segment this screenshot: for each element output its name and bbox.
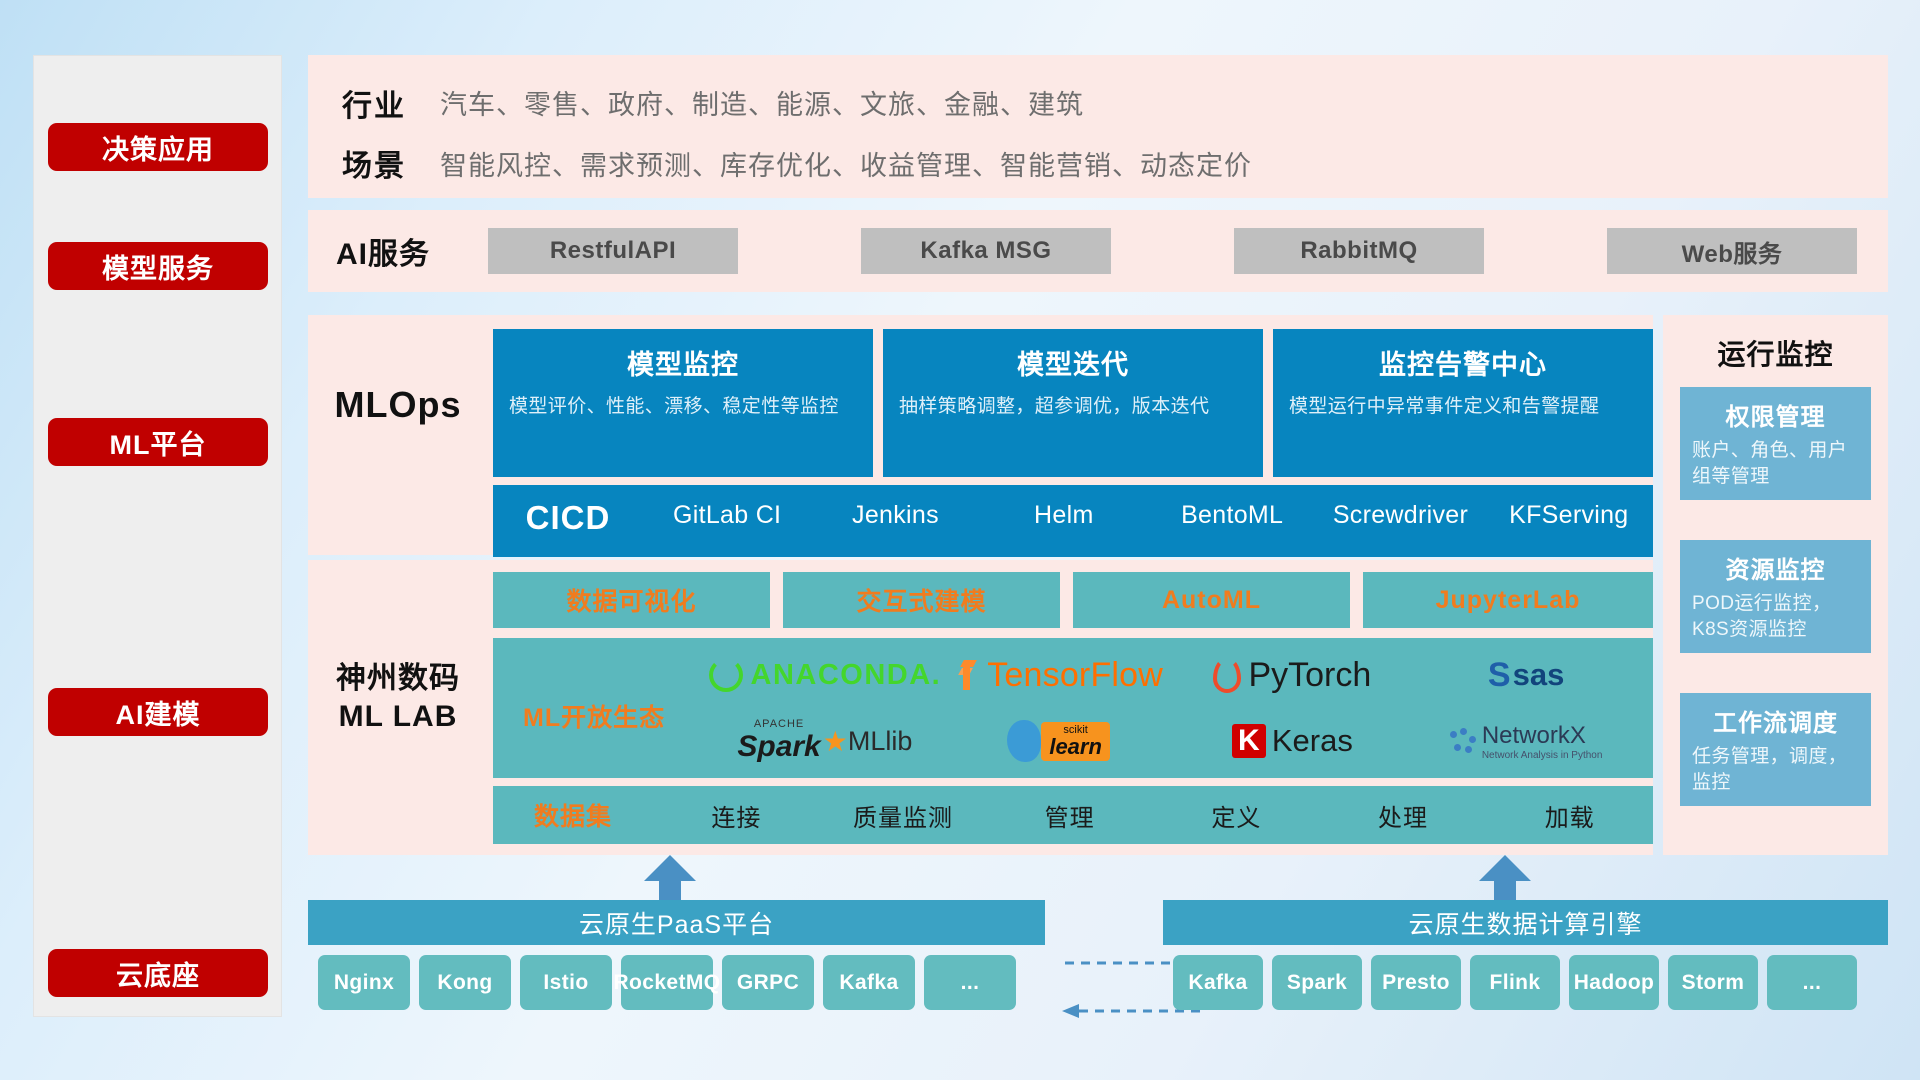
dataset-bar: 数据集 连接 质量监测 管理 定义 处理 加载 <box>493 786 1653 844</box>
engine-chip-more[interactable]: ... <box>1767 955 1857 1010</box>
ml-lab-label: 神州数码 ML LAB <box>308 660 488 735</box>
card-desc: 抽样策略调整，超参调优，版本迭代 <box>899 394 1247 420</box>
logo-spark-mllib: APACHE Spark ★ MLlib <box>708 708 942 774</box>
paas-chip-kafka[interactable]: Kafka <box>823 955 915 1010</box>
card-title: 工作流调度 <box>1692 703 1859 738</box>
rail-item-decision-app[interactable]: 决策应用 <box>48 123 268 171</box>
industry-values: 汽车、零售、政府、制造、能源、文旅、金融、建筑 <box>440 83 1084 122</box>
logo-sas-text: sas <box>1513 657 1565 693</box>
cicd-item-bentoml[interactable]: BentoML <box>1148 485 1316 530</box>
paas-chip-rocketmq[interactable]: RocketMQ <box>621 955 713 1010</box>
spark-apache-label: APACHE <box>754 718 804 730</box>
spark-star-icon: ★ <box>823 725 848 758</box>
card-title: 模型监控 <box>509 343 857 382</box>
card-desc: 账户、角色、用户组等管理 <box>1692 438 1859 489</box>
arrow-up-left-icon <box>640 855 700 900</box>
logo-keras-text: Keras <box>1272 723 1353 759</box>
sas-icon: S <box>1488 656 1511 695</box>
ml-ecosystem-label: ML开放生态 <box>523 698 665 734</box>
architecture-diagram: 决策应用 模型服务 ML平台 AI建模 云底座 行业 汽车、零售、政府、制造、能… <box>0 0 1920 1080</box>
pytorch-icon <box>1213 657 1241 693</box>
cicd-item-jenkins[interactable]: Jenkins <box>811 485 979 530</box>
networkx-subtitle: Network Analysis in Python <box>1482 750 1603 761</box>
mlops-panel: MLOps 模型监控 模型评价、性能、漂移、稳定性等监控 模型迭代 抽样策略调整… <box>308 315 1653 555</box>
logo-tensorflow: TensorFlow <box>942 642 1176 708</box>
engine-chip-spark[interactable]: Spark <box>1272 955 1362 1010</box>
engine-chip-presto[interactable]: Presto <box>1371 955 1461 1010</box>
ml-ecosystem-logos: ANACONDA. TensorFlow PyTorch S sas <box>708 642 1643 774</box>
logo-tensorflow-text: TensorFlow <box>987 656 1163 695</box>
monitor-card-resource[interactable]: 资源监控 POD运行监控，K8S资源监控 <box>1680 540 1871 653</box>
networkx-icon <box>1450 728 1476 754</box>
rail-item-model-service[interactable]: 模型服务 <box>48 242 268 290</box>
industry-label: 行业 <box>308 81 440 125</box>
anaconda-icon <box>709 658 743 692</box>
dataset-item-process[interactable]: 处理 <box>1320 798 1487 833</box>
industry-scenario-panel: 行业 汽车、零售、政府、制造、能源、文旅、金融、建筑 场景 智能风控、需求预测、… <box>308 55 1888 198</box>
dataset-label: 数据集 <box>493 797 653 833</box>
scikit-learn-badge: scikit learn <box>1041 722 1110 761</box>
mllab-tab-interactive-modeling[interactable]: 交互式建模 <box>783 572 1060 628</box>
logo-scikit-learn: scikit learn <box>942 708 1176 774</box>
engine-chip-kafka[interactable]: Kafka <box>1173 955 1263 1010</box>
ml-lab-label-line2: ML LAB <box>308 698 488 736</box>
monitor-card-permission[interactable]: 权限管理 账户、角色、用户组等管理 <box>1680 387 1871 500</box>
logo-networkx: NetworkX Network Analysis in Python <box>1409 708 1643 774</box>
ml-lab-panel: 神州数码 ML LAB 数据可视化 交互式建模 AutoML JupyterLa… <box>308 560 1653 855</box>
cicd-item-gitlab-ci[interactable]: GitLab CI <box>643 485 811 530</box>
card-desc: 模型运行中异常事件定义和告警提醒 <box>1289 394 1637 420</box>
engine-chip-hadoop[interactable]: Hadoop <box>1569 955 1659 1010</box>
dataset-item-quality[interactable]: 质量监测 <box>820 798 987 833</box>
ai-service-restfulapi[interactable]: RestfulAPI <box>488 228 738 274</box>
scenario-label: 场景 <box>308 141 440 185</box>
ai-service-label: AI服务 <box>308 210 458 292</box>
rail-item-cloud-base[interactable]: 云底座 <box>48 949 268 997</box>
ai-service-kafka-msg[interactable]: Kafka MSG <box>861 228 1111 274</box>
cicd-item-helm[interactable]: Helm <box>980 485 1148 530</box>
dataset-item-connect[interactable]: 连接 <box>653 798 820 833</box>
monitor-card-workflow[interactable]: 工作流调度 任务管理，调度，监控 <box>1680 693 1871 806</box>
dataset-item-load[interactable]: 加载 <box>1486 798 1653 833</box>
tensorflow-icon <box>954 660 980 690</box>
cicd-item-screwdriver[interactable]: Screwdriver <box>1316 485 1484 530</box>
run-monitoring-title: 运行监控 <box>1663 333 1888 373</box>
paas-chip-grpc[interactable]: GRPC <box>722 955 814 1010</box>
dataset-item-manage[interactable]: 管理 <box>986 798 1153 833</box>
logo-networkx-text: NetworkX <box>1482 722 1586 749</box>
data-engine-header: 云原生数据计算引擎 <box>1163 900 1888 945</box>
logo-spark-text: Spark <box>737 730 820 764</box>
engine-chip-storm[interactable]: Storm <box>1668 955 1758 1010</box>
cicd-label: CICD <box>493 485 643 537</box>
logo-pytorch-text: PyTorch <box>1248 656 1371 695</box>
logo-keras: K Keras <box>1176 708 1410 774</box>
rail-item-ml-platform[interactable]: ML平台 <box>48 418 268 466</box>
cicd-bar: CICD GitLab CI Jenkins Helm BentoML Scre… <box>493 485 1653 557</box>
arrow-up-right-icon <box>1475 855 1535 900</box>
mlops-label: MLOps <box>308 375 488 435</box>
card-title: 模型迭代 <box>899 343 1247 382</box>
mllab-tab-data-visualization[interactable]: 数据可视化 <box>493 572 770 628</box>
ai-service-panel: AI服务 RestfulAPI Kafka MSG RabbitMQ Web服务 <box>308 210 1888 292</box>
logo-anaconda: ANACONDA. <box>708 642 942 708</box>
paas-platform-header: 云原生PaaS平台 <box>308 900 1045 945</box>
mlops-card-alert-center[interactable]: 监控告警中心 模型运行中异常事件定义和告警提醒 <box>1273 329 1653 477</box>
paas-chip-kong[interactable]: Kong <box>419 955 511 1010</box>
paas-chip-nginx[interactable]: Nginx <box>318 955 410 1010</box>
ai-service-web[interactable]: Web服务 <box>1607 228 1857 274</box>
card-title: 监控告警中心 <box>1289 343 1637 382</box>
scikit-blob-icon <box>1007 720 1041 762</box>
keras-icon: K <box>1232 724 1266 758</box>
dataset-item-define[interactable]: 定义 <box>1153 798 1320 833</box>
ml-lab-label-line1: 神州数码 <box>308 660 488 698</box>
card-desc: 任务管理，调度，监控 <box>1692 744 1859 795</box>
scenario-values: 智能风控、需求预测、库存优化、收益管理、智能营销、动态定价 <box>440 144 1252 183</box>
cicd-item-kfserving[interactable]: KFServing <box>1485 485 1653 530</box>
mllab-tab-jupyterlab[interactable]: JupyterLab <box>1363 572 1653 628</box>
card-title: 权限管理 <box>1692 397 1859 432</box>
card-desc: POD运行监控，K8S资源监控 <box>1692 591 1859 642</box>
card-title: 资源监控 <box>1692 550 1859 585</box>
rail-item-ai-modeling[interactable]: AI建模 <box>48 688 268 736</box>
logo-mllib-text: MLlib <box>848 726 913 757</box>
layer-rail: 决策应用 模型服务 ML平台 AI建模 云底座 <box>33 55 282 1017</box>
logo-pytorch: PyTorch <box>1176 642 1410 708</box>
logo-anaconda-text: ANACONDA. <box>751 659 942 692</box>
mllab-tab-automl[interactable]: AutoML <box>1073 572 1350 628</box>
mlops-card-model-iteration[interactable]: 模型迭代 抽样策略调整，超参调优，版本迭代 <box>883 329 1263 477</box>
mlops-card-model-monitoring[interactable]: 模型监控 模型评价、性能、漂移、稳定性等监控 <box>493 329 873 477</box>
paas-chip-istio[interactable]: Istio <box>520 955 612 1010</box>
paas-chip-row: Nginx Kong Istio RocketMQ GRPC Kafka ... <box>318 955 1035 1010</box>
learn-label: learn <box>1049 736 1102 758</box>
paas-chip-more[interactable]: ... <box>924 955 1016 1010</box>
engine-chip-flink[interactable]: Flink <box>1470 955 1560 1010</box>
data-engine-chip-row: Kafka Spark Presto Flink Hadoop Storm ..… <box>1173 955 1878 1010</box>
ai-service-rabbitmq[interactable]: RabbitMQ <box>1234 228 1484 274</box>
run-monitoring-panel: 运行监控 权限管理 账户、角色、用户组等管理 资源监控 POD运行监控，K8S资… <box>1663 315 1888 855</box>
logo-sas: S sas <box>1409 642 1643 708</box>
card-desc: 模型评价、性能、漂移、稳定性等监控 <box>509 394 857 420</box>
